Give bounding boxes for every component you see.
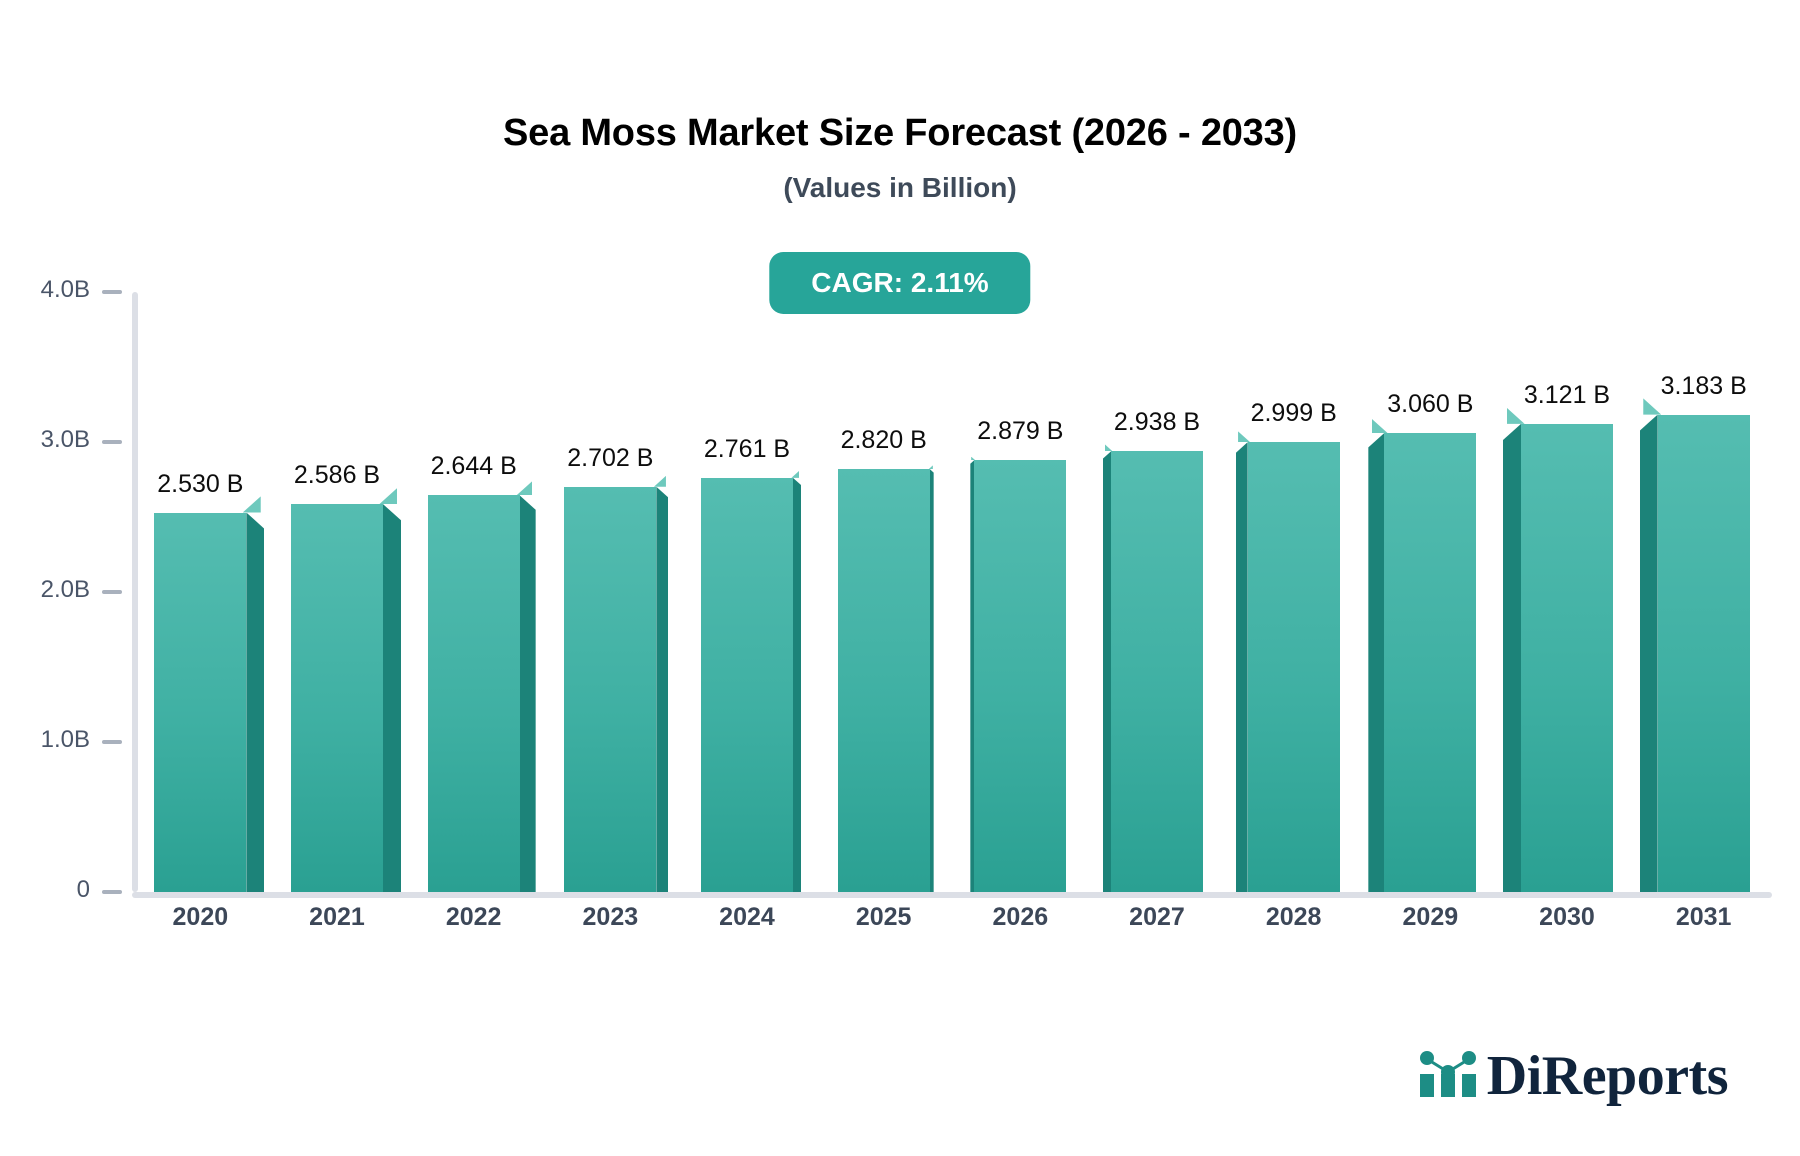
bar-value-label: 2.702 B — [567, 444, 653, 473]
bar-column: 3.060 B — [1384, 292, 1476, 892]
bar — [1111, 451, 1203, 892]
bar-side-face — [1103, 451, 1111, 892]
bar — [974, 460, 1066, 892]
bar-side-face — [520, 495, 536, 892]
x-axis-label: 2025 — [815, 903, 952, 932]
bar-column: 2.820 B — [838, 292, 930, 892]
bar-side-face — [1640, 415, 1658, 892]
bar-top-face — [1643, 398, 1661, 414]
bar — [564, 487, 656, 892]
bar-column: 2.999 B — [1248, 292, 1340, 892]
y-axis-tick-label: 4.0B — [41, 276, 90, 304]
x-axis-label: 2028 — [1225, 903, 1362, 932]
bar — [291, 504, 383, 892]
x-axis-label: 2027 — [1089, 903, 1226, 932]
direports-logo: DiReports — [1417, 1047, 1728, 1104]
bar-value-label: 2.530 B — [157, 470, 243, 499]
bar-top-face — [1372, 419, 1388, 433]
y-axis-tick-label: 1.0B — [41, 726, 90, 754]
bar-face — [428, 495, 520, 892]
chart-subtitle: (Values in Billion) — [0, 172, 1800, 204]
y-axis-tick-mark — [102, 440, 122, 444]
bar-top-face — [243, 496, 261, 512]
y-axis-tick-label: 2.0B — [41, 576, 90, 604]
bar-top-face — [1507, 408, 1525, 424]
x-axis-label: 2026 — [952, 903, 1089, 932]
bar-top-face — [379, 488, 397, 504]
y-axis-tick-mark — [102, 290, 122, 294]
bar-face — [1521, 424, 1613, 892]
bar-top-face — [516, 481, 532, 495]
bar-side-face — [1368, 433, 1384, 892]
bar — [701, 478, 793, 892]
bar-top-face — [791, 471, 799, 478]
chart-title: Sea Moss Market Size Forecast (2026 - 20… — [0, 112, 1800, 155]
bar-face — [1248, 442, 1340, 892]
bar-face — [974, 460, 1066, 892]
bar-column: 2.761 B — [701, 292, 793, 892]
bar — [1384, 433, 1476, 892]
bar-top-face — [1238, 431, 1250, 442]
bar — [428, 495, 520, 892]
bar-column: 3.183 B — [1658, 292, 1750, 892]
bar-side-face — [793, 478, 801, 892]
bar — [154, 513, 246, 893]
bar-value-label: 3.121 B — [1524, 381, 1610, 410]
bar-value-label: 2.644 B — [431, 452, 517, 481]
bar-column: 2.879 B — [974, 292, 1066, 892]
x-axis-label: 2029 — [1362, 903, 1499, 932]
y-axis-tick-label: 0 — [77, 876, 90, 904]
x-axis-labels: 2020202120222023202420252026202720282029… — [132, 903, 1772, 943]
bar-face — [1384, 433, 1476, 892]
bar — [1658, 415, 1750, 892]
bar-side-face — [1503, 424, 1521, 892]
bar-column: 2.938 B — [1111, 292, 1203, 892]
x-axis-label: 2020 — [132, 903, 269, 932]
bar-value-label: 2.999 B — [1251, 399, 1337, 428]
bar-side-face — [1236, 442, 1248, 892]
bar-column: 2.530 B — [154, 292, 246, 892]
logo-text: DiReports — [1487, 1048, 1728, 1104]
x-axis-label: 2023 — [542, 903, 679, 932]
plot-area: 01.0B2.0B3.0B4.0B 2.530 B2.586 B2.644 B2… — [132, 292, 1772, 892]
bar-column: 2.702 B — [564, 292, 656, 892]
bar-side-face — [930, 469, 934, 892]
bar-side-face — [656, 487, 668, 892]
bar-top-face — [654, 476, 666, 487]
y-axis-tick-mark — [102, 590, 122, 594]
y-axis-tick-mark — [102, 740, 122, 744]
bar-value-label: 3.183 B — [1661, 372, 1747, 401]
x-axis-label: 2022 — [405, 903, 542, 932]
y-axis-tick-label: 3.0B — [41, 426, 90, 454]
bar-face — [154, 513, 246, 893]
bar-value-label: 3.060 B — [1387, 390, 1473, 419]
bar — [1248, 442, 1340, 892]
bar-face — [564, 487, 656, 892]
x-axis-line — [132, 892, 1772, 898]
bar-column: 2.586 B — [291, 292, 383, 892]
bar-face — [1111, 451, 1203, 892]
bar-value-label: 2.761 B — [704, 435, 790, 464]
x-axis-label: 2031 — [1635, 903, 1772, 932]
bar — [1521, 424, 1613, 892]
bar-face — [838, 469, 930, 892]
bar-face — [291, 504, 383, 892]
bar-value-label: 2.586 B — [294, 461, 380, 490]
x-axis-label: 2024 — [679, 903, 816, 932]
chart-canvas: Sea Moss Market Size Forecast (2026 - 20… — [0, 0, 1800, 1156]
bar-value-label: 2.938 B — [1114, 408, 1200, 437]
bar-face — [1658, 415, 1750, 892]
bar-column: 2.644 B — [428, 292, 520, 892]
bar-column: 3.121 B — [1521, 292, 1613, 892]
bar-value-label: 2.820 B — [841, 426, 927, 455]
x-axis-label: 2030 — [1499, 903, 1636, 932]
bar — [838, 469, 930, 892]
bar-face — [701, 478, 793, 892]
bar-series: 2.530 B2.586 B2.644 B2.702 B2.761 B2.820… — [132, 292, 1772, 892]
y-axis-tick-mark — [102, 890, 122, 894]
bar-side-face — [383, 504, 401, 892]
x-axis-label: 2021 — [269, 903, 406, 932]
bar-top-face — [1105, 444, 1113, 451]
bar-side-face — [246, 513, 264, 893]
bar-side-face — [970, 460, 974, 892]
bar-chart-icon — [1417, 1047, 1479, 1104]
bar-value-label: 2.879 B — [977, 417, 1063, 446]
